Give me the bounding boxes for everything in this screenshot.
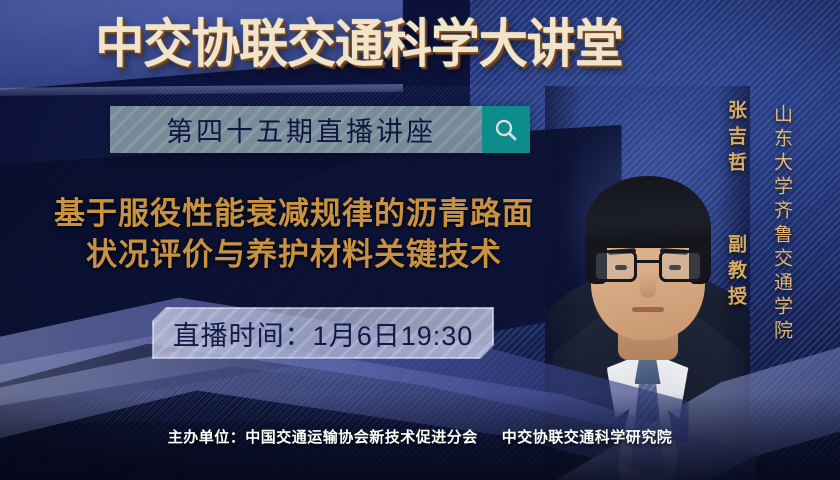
lecture-headline: 基于服役性能衰减规律的沥青路面 状况评价与养护材料关键技术 xyxy=(14,193,574,275)
broadcast-time-banner: 直播时间：1月6日19:30 xyxy=(152,307,494,359)
broadcast-time-label: 直播时间：1月6日19:30 xyxy=(173,314,474,353)
episode-banner: 第四十五期直播讲座 xyxy=(110,106,530,153)
lecture-headline-line1: 基于服役性能衰减规律的沥青路面 xyxy=(54,196,534,231)
lecture-headline-line2: 状况评价与养护材料关键技术 xyxy=(14,234,574,275)
episode-label: 第四十五期直播讲座 xyxy=(110,106,482,153)
footer-prefix: 主办单位： xyxy=(168,429,246,446)
webinar-poster: 中交协联交通科学大讲堂 第四十五期直播讲座 基于服役性能衰减规律的沥青路面 状况… xyxy=(0,0,840,480)
footer-organizers: 主办单位：中国交通运输协会新技术促进分会中交协联交通科学研究院 xyxy=(0,426,840,447)
speaker-organization: 山东大学齐鲁交通学院 xyxy=(768,104,795,344)
speaker-name-title: 张吉哲 副教授 xyxy=(722,100,749,312)
footer-org-secondary: 中交协联交通科学研究院 xyxy=(502,429,673,446)
page-title: 中交协联交通科学大讲堂 xyxy=(22,14,697,76)
footer-org-primary: 中国交通运输协会新技术促进分会 xyxy=(245,429,478,446)
search-icon xyxy=(493,117,519,143)
search-button[interactable] xyxy=(482,106,530,153)
